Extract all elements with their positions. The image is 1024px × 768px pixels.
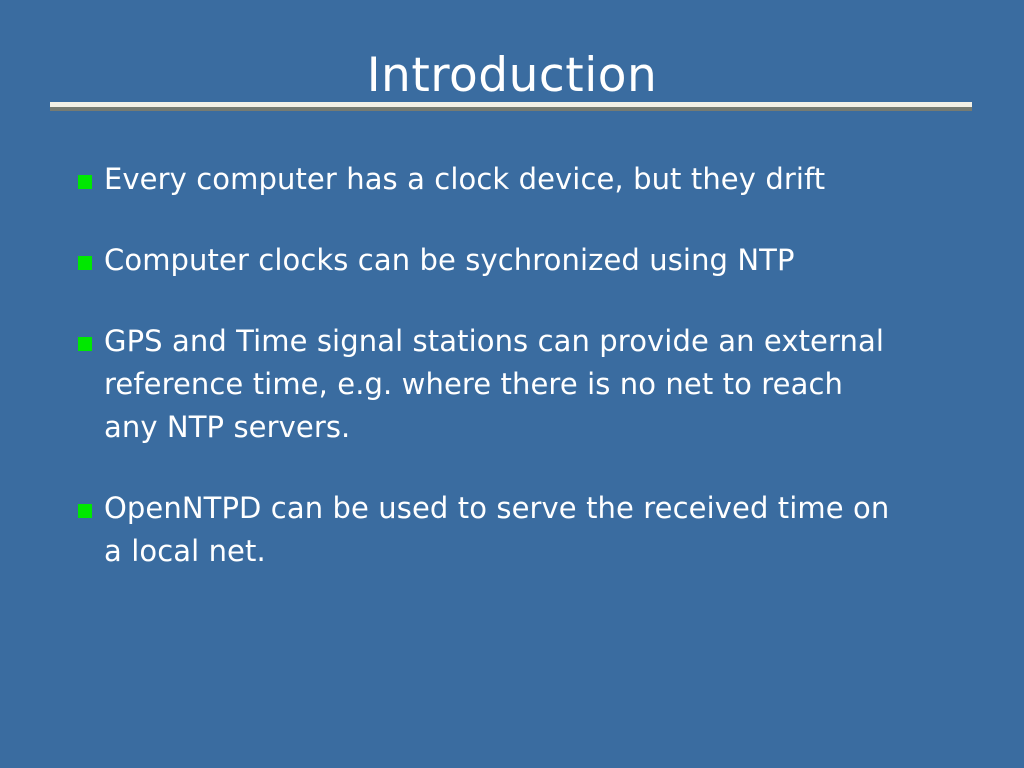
list-item-label: Every computer has a clock device, but t…: [104, 158, 978, 201]
presentation-slide: Introduction Every computer has a clock …: [0, 0, 1024, 768]
slide-title-block: Introduction: [0, 44, 1024, 106]
list-item: Computer clocks can be sychronized using…: [78, 239, 978, 282]
title-divider-shadow: [50, 107, 972, 111]
list-item: GPS and Time signal stations can provide…: [78, 320, 978, 449]
list-item-label: Computer clocks can be sychronized using…: [104, 239, 978, 282]
title-divider: [50, 102, 972, 112]
bullet-list: Every computer has a clock device, but t…: [78, 158, 978, 573]
square-bullet-icon: [78, 504, 92, 518]
list-item: Every computer has a clock device, but t…: [78, 158, 978, 201]
list-item-label: OpenNTPD can be used to serve the receiv…: [104, 487, 978, 573]
list-item-label: GPS and Time signal stations can provide…: [104, 320, 978, 449]
square-bullet-icon: [78, 175, 92, 189]
square-bullet-icon: [78, 256, 92, 270]
list-item: OpenNTPD can be used to serve the receiv…: [78, 487, 978, 573]
page-title: Introduction: [367, 52, 658, 99]
square-bullet-icon: [78, 337, 92, 351]
